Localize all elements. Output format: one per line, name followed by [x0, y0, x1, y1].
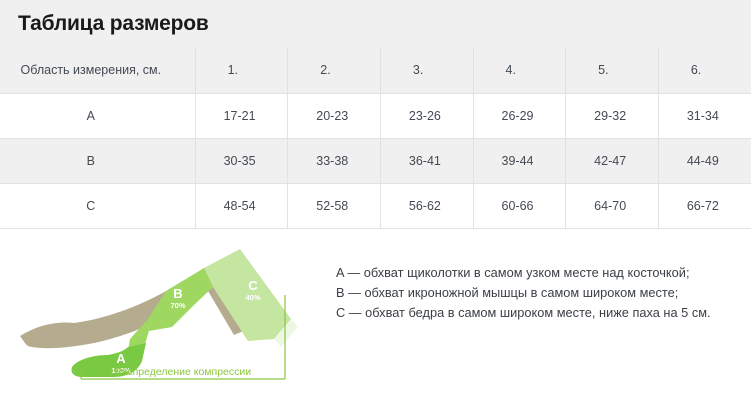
cell-b-2: 33-38 — [288, 138, 381, 183]
cell-b-3: 36-41 — [380, 138, 473, 183]
table-row: A 17-21 20-23 23-26 26-29 29-32 31-34 — [0, 93, 751, 138]
column-header-1: 1. — [195, 48, 288, 93]
table-header-row: Область измерения, см. 1. 2. 3. 4. 5. 6. — [0, 48, 751, 93]
svg-text:70%: 70% — [170, 301, 185, 310]
cell-c-5: 64-70 — [566, 183, 659, 228]
column-header-measurement-area: Область измерения, см. — [0, 48, 195, 93]
size-table-container: Область измерения, см. 1. 2. 3. 4. 5. 6.… — [0, 48, 751, 229]
svg-text:A: A — [116, 351, 126, 366]
page-title: Таблица размеров — [18, 12, 209, 36]
column-header-3: 3. — [380, 48, 473, 93]
bottom-section: A 100% B 70% C 40% Распределение компрес… — [0, 229, 751, 393]
column-header-2: 2. — [288, 48, 381, 93]
column-header-4: 4. — [473, 48, 566, 93]
cell-a-1: 17-21 — [195, 93, 288, 138]
cell-c-4: 60-66 — [473, 183, 566, 228]
cell-a-3: 23-26 — [380, 93, 473, 138]
illustration-caption-text: Распределение компрессии — [115, 366, 251, 378]
cell-c-2: 52-58 — [288, 183, 381, 228]
size-table: Область измерения, см. 1. 2. 3. 4. 5. 6.… — [0, 48, 751, 229]
table-row: B 30-35 33-38 36-41 39-44 42-47 44-49 — [0, 138, 751, 183]
column-header-5: 5. — [566, 48, 659, 93]
cell-c-1: 48-54 — [195, 183, 288, 228]
cell-b-5: 42-47 — [566, 138, 659, 183]
cell-a-2: 20-23 — [288, 93, 381, 138]
legend-list: A — обхват щиколотки в самом узком месте… — [336, 243, 751, 323]
cell-a-5: 29-32 — [566, 93, 659, 138]
svg-text:40%: 40% — [245, 293, 260, 302]
cell-b-1: 30-35 — [195, 138, 288, 183]
cell-c-3: 56-62 — [380, 183, 473, 228]
compression-illustration: A 100% B 70% C 40% Распределение компрес… — [8, 243, 308, 393]
column-header-6: 6. — [658, 48, 751, 93]
title-bar: Таблица размеров — [0, 0, 751, 48]
row-label-a: A — [0, 93, 195, 138]
row-label-c: C — [0, 183, 195, 228]
cell-b-6: 44-49 — [658, 138, 751, 183]
cell-a-6: 31-34 — [658, 93, 751, 138]
row-label-b: B — [0, 138, 195, 183]
cell-b-4: 39-44 — [473, 138, 566, 183]
legend-item-c: C — обхват бедра в самом широком месте, … — [336, 303, 751, 323]
cell-a-4: 26-29 — [473, 93, 566, 138]
legend-item-a: A — обхват щиколотки в самом узком месте… — [336, 263, 751, 283]
svg-text:B: B — [173, 286, 182, 301]
legend-item-b: B — обхват икроножной мышцы в самом широ… — [336, 283, 751, 303]
svg-text:C: C — [248, 278, 258, 293]
cell-c-6: 66-72 — [658, 183, 751, 228]
table-row: C 48-54 52-58 56-62 60-66 64-70 66-72 — [0, 183, 751, 228]
